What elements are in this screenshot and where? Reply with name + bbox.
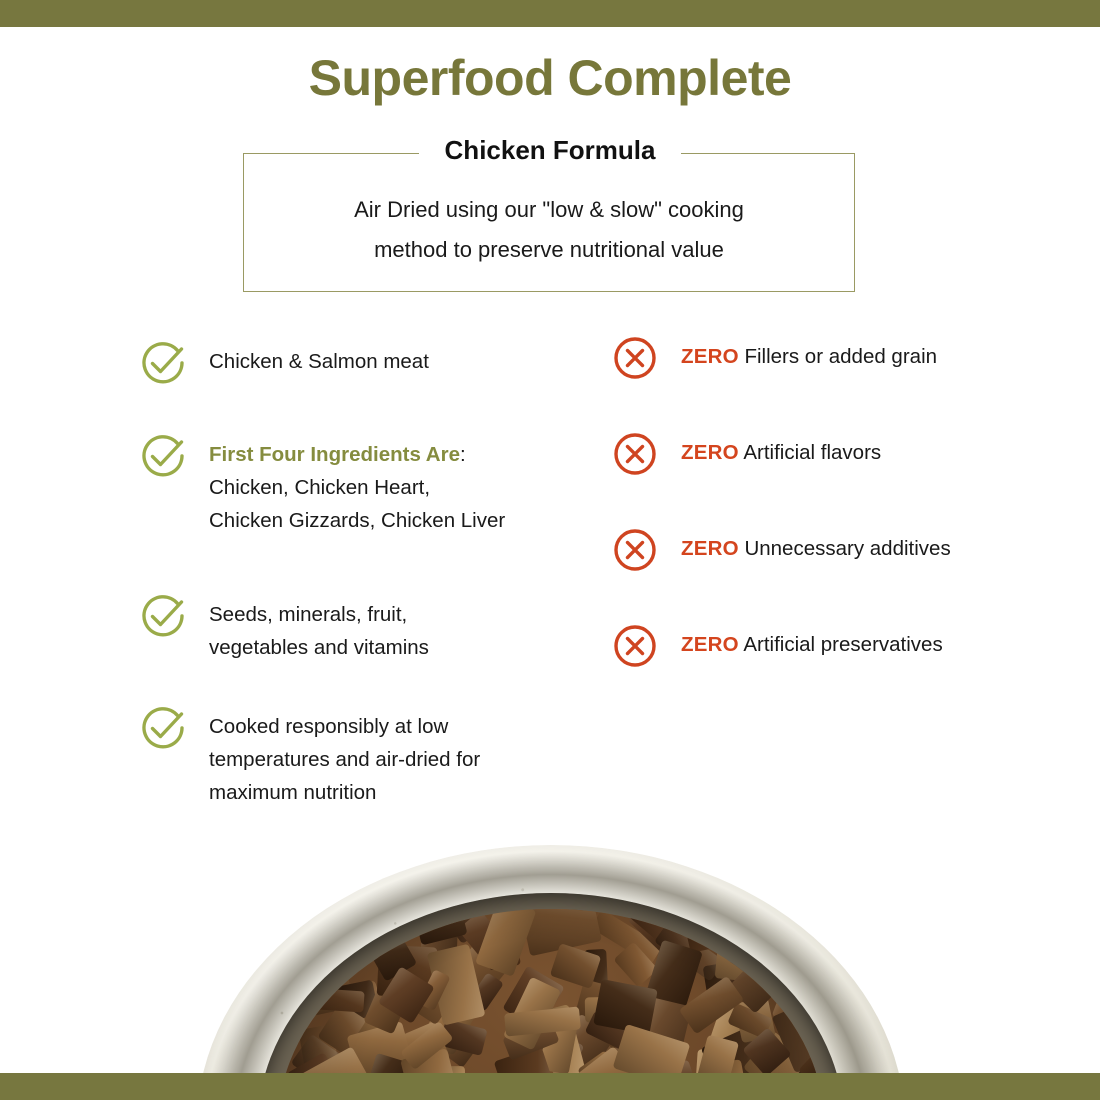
list-item-line: Artificial flavors (743, 441, 881, 464)
list-item-line: Artificial preservatives (743, 633, 942, 656)
list-item-line: Chicken, Chicken Heart, (209, 476, 430, 499)
list-item: Cooked responsibly at low temperatures a… (137, 702, 480, 810)
list-item: First Four Ingredients Are: Chicken, Chi… (137, 430, 505, 538)
list-item-line: maximum nutrition (209, 781, 376, 804)
page-title: Superfood Complete (0, 50, 1100, 108)
check-circle-icon (137, 430, 189, 482)
list-item: ZERO Fillers or added grain (609, 332, 937, 384)
list-item-text: Seeds, minerals, fruit, vegetables and v… (209, 590, 429, 664)
x-circle-icon (609, 524, 661, 576)
bowl-of-air-dried-food-photo (197, 845, 905, 1073)
list-item-line: Chicken Gizzards, Chicken Liver (209, 509, 505, 532)
check-circle-icon (137, 702, 189, 754)
formula-body-line-1: Air Dried using our "low & slow" cooking (243, 190, 855, 230)
list-item-line: temperatures and air-dried for (209, 748, 480, 771)
list-item-text: Chicken & Salmon meat (209, 337, 429, 378)
list-item-line: Fillers or added grain (744, 345, 937, 368)
list-item-lead-suffix: : (460, 443, 466, 466)
list-item-line: Cooked responsibly at low (209, 715, 448, 738)
list-item-text: ZERO Unnecessary additives (681, 524, 951, 565)
check-circle-icon (137, 590, 189, 642)
top-olive-bar (0, 0, 1100, 27)
list-item-line: Unnecessary additives (744, 537, 950, 560)
formula-heading-label: Chicken Formula (419, 135, 682, 165)
list-item: ZERO Artificial preservatives (609, 620, 943, 672)
check-circle-icon (137, 337, 189, 389)
list-item-lead: ZERO (681, 537, 739, 560)
bottom-olive-bar (0, 1073, 1100, 1100)
list-item-text: ZERO Fillers or added grain (681, 332, 937, 373)
list-item: Chicken & Salmon meat (137, 337, 429, 389)
formula-heading: Chicken Formula (0, 135, 1100, 166)
list-item-line: vegetables and vitamins (209, 636, 429, 659)
list-item-lead: ZERO (681, 633, 739, 656)
list-item: ZERO Artificial flavors (609, 428, 881, 480)
x-circle-icon (609, 620, 661, 672)
list-item-text: Cooked responsibly at low temperatures a… (209, 702, 480, 810)
list-item-line: Chicken & Salmon meat (209, 350, 429, 373)
list-item-text: First Four Ingredients Are: Chicken, Chi… (209, 430, 505, 538)
list-item-line: Seeds, minerals, fruit, (209, 603, 407, 626)
formula-body: Air Dried using our "low & slow" cooking… (243, 190, 855, 270)
list-item: ZERO Unnecessary additives (609, 524, 951, 576)
product-infographic: Superfood Complete Chicken Formula Air D… (0, 0, 1100, 1100)
list-item-lead: First Four Ingredients Are (209, 443, 460, 466)
ceramic-bowl (197, 845, 905, 1073)
list-item-text: ZERO Artificial preservatives (681, 620, 943, 661)
list-item-text: ZERO Artificial flavors (681, 428, 881, 469)
x-circle-icon (609, 428, 661, 480)
formula-body-line-2: method to preserve nutritional value (243, 230, 855, 270)
list-item-lead: ZERO (681, 441, 739, 464)
x-circle-icon (609, 332, 661, 384)
list-item: Seeds, minerals, fruit, vegetables and v… (137, 590, 429, 664)
list-item-lead: ZERO (681, 345, 739, 368)
